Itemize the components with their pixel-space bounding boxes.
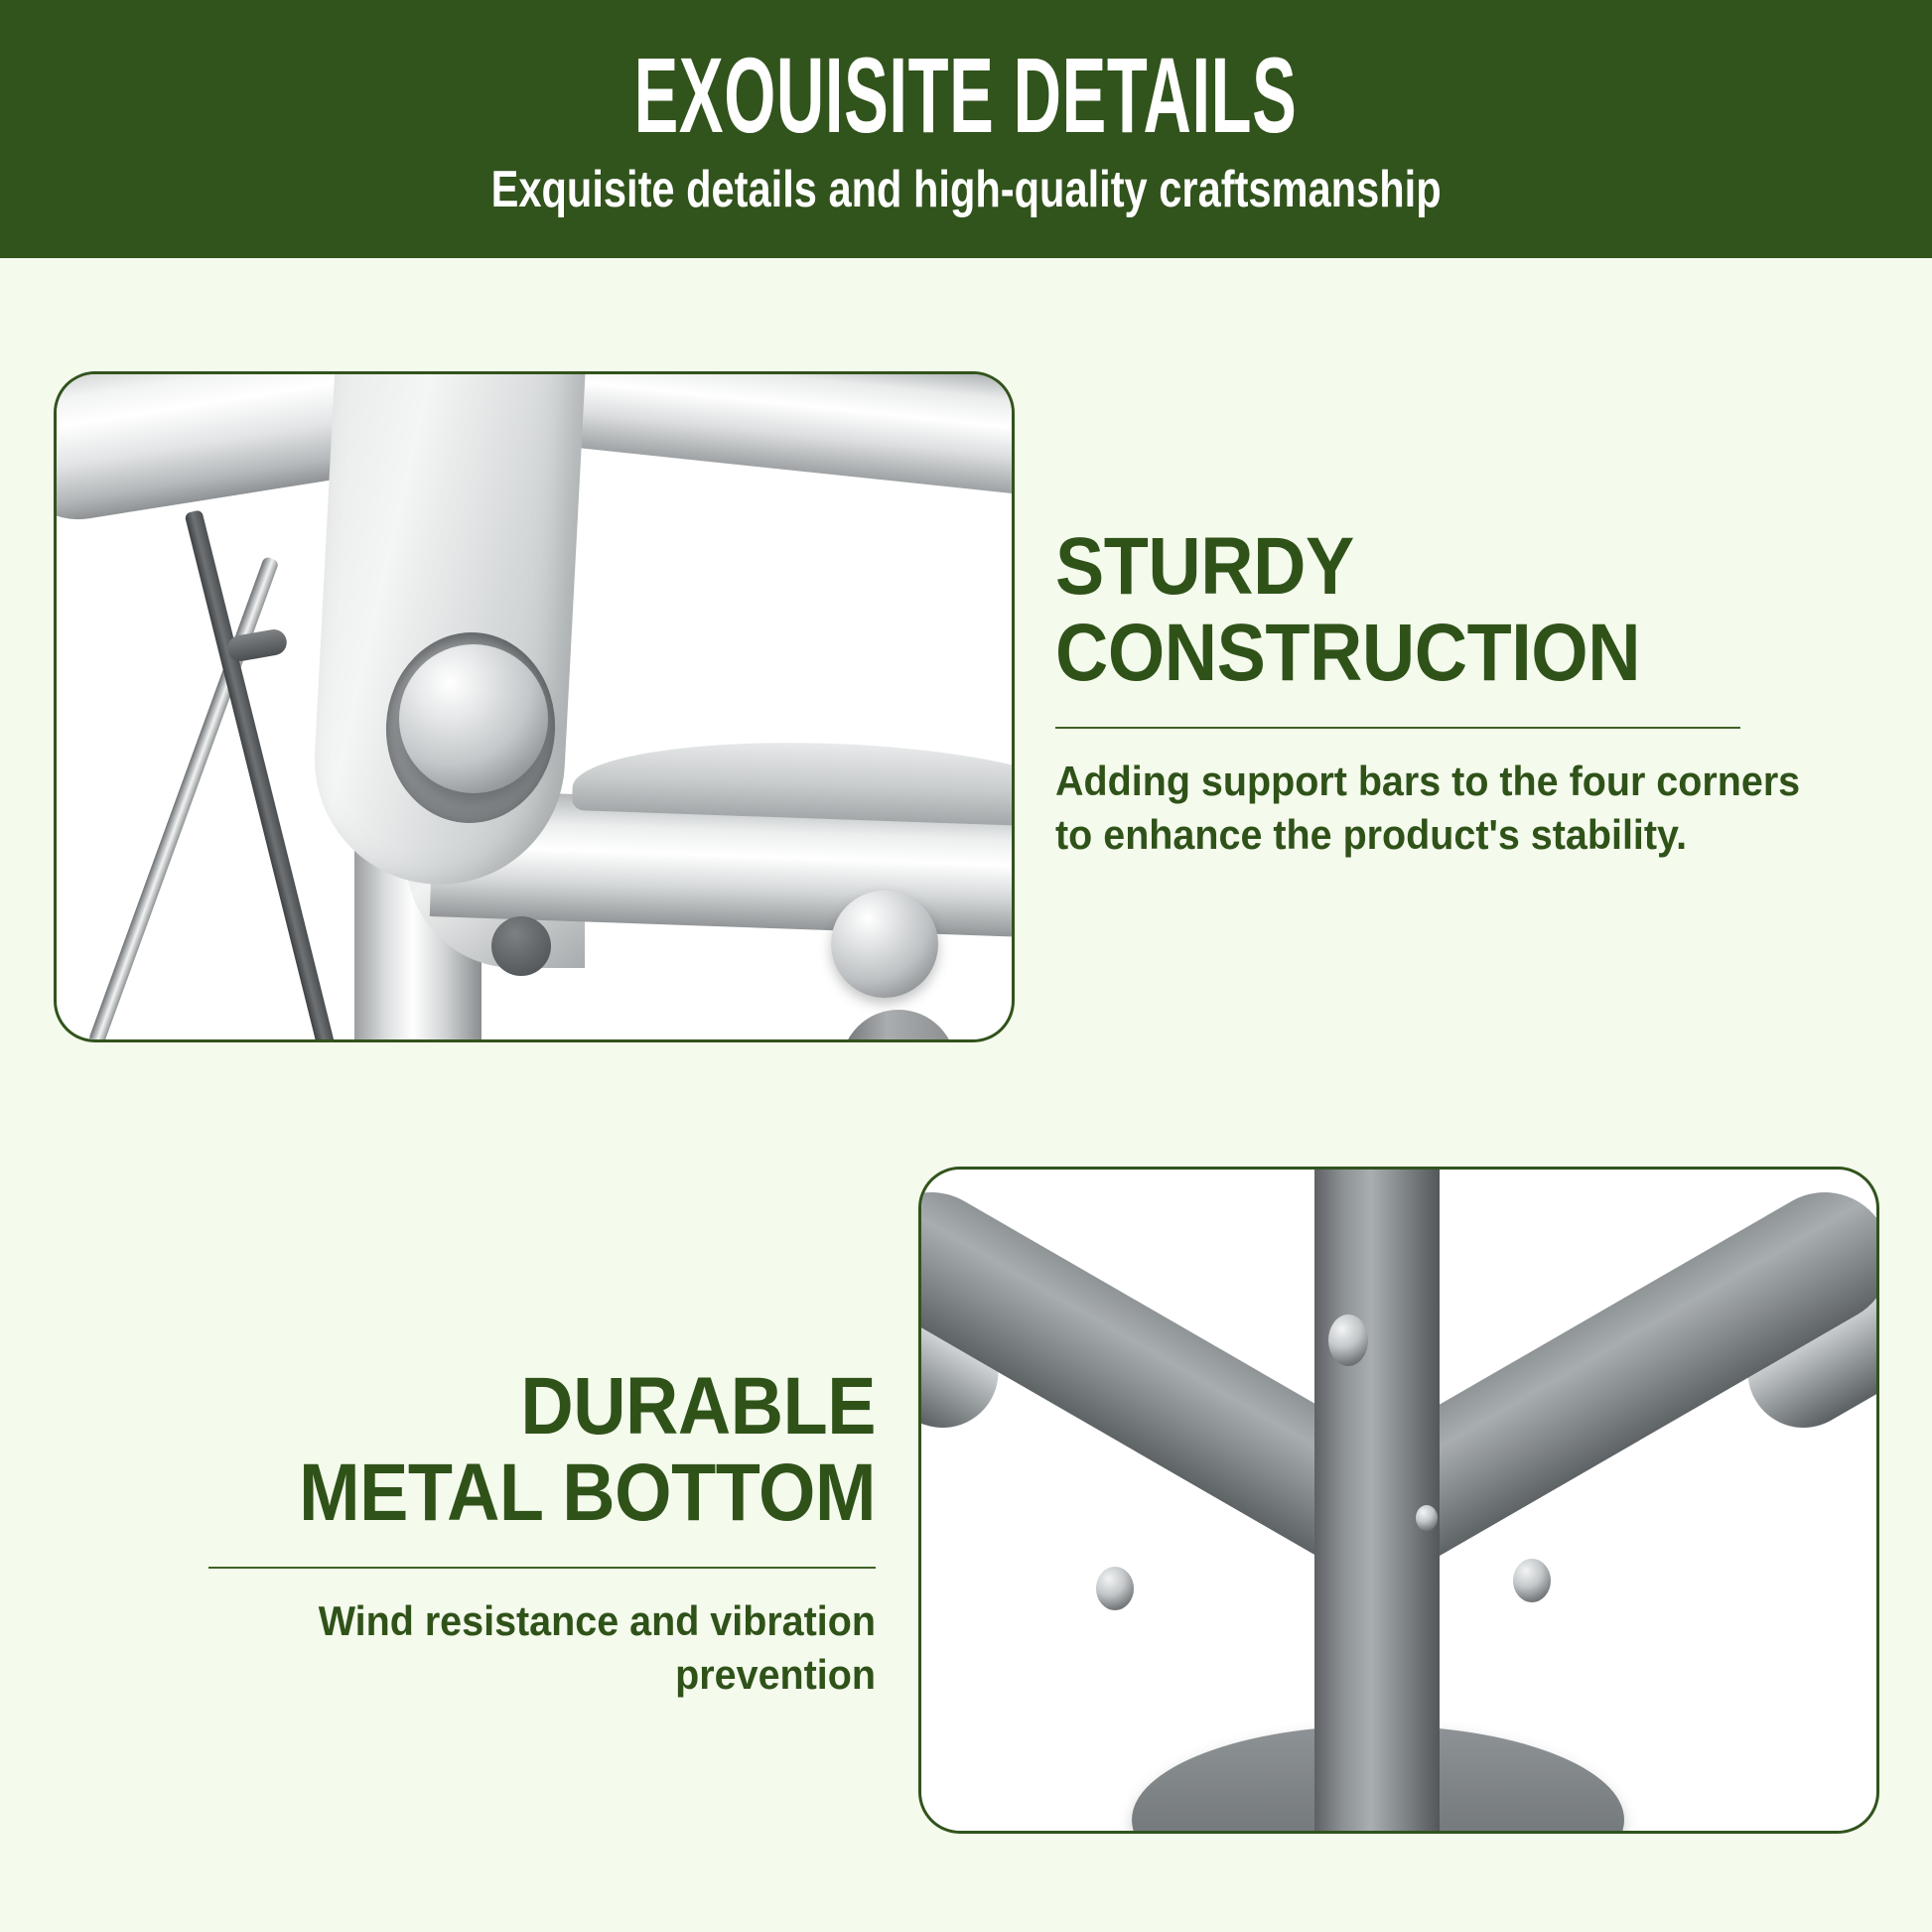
feature-description-sturdy-construction: Adding support bars to the four corners …	[1055, 755, 1802, 862]
divider-sturdy-construction	[1055, 727, 1740, 729]
feature-text-sturdy-construction: STURDY CONSTRUCTION Adding support bars …	[1055, 524, 1850, 861]
metal-foot-illustration	[921, 1170, 1876, 1831]
lower-tube-stub	[841, 1010, 956, 1039]
header-banner: EXOUISITE DETAILS Exquisite details and …	[0, 0, 1932, 258]
ball-rivet-lower-icon	[831, 891, 938, 998]
feature-heading-sturdy-construction: STURDY CONSTRUCTION	[1055, 524, 1770, 697]
feature-description-durable-metal-bottom: Wind resistance and vibration prevention	[110, 1594, 876, 1702]
brace-cap-icon	[225, 627, 289, 663]
ball-rivet-upper-icon	[399, 644, 548, 793]
rivet-left-icon	[1096, 1567, 1134, 1610]
rivet-center-icon	[1416, 1505, 1438, 1531]
pin-hole	[491, 916, 551, 976]
divider-durable-metal-bottom	[208, 1567, 876, 1569]
support-bar-left-icon	[88, 556, 280, 1039]
rivet-top-icon	[1328, 1314, 1368, 1366]
feature-image-durable-metal-bottom	[918, 1167, 1879, 1834]
feature-image-sturdy-construction	[54, 371, 1015, 1042]
page-title: EXOUISITE DETAILS	[634, 42, 1298, 149]
rivet-right-icon	[1513, 1559, 1551, 1602]
chrome-joint-illustration	[57, 374, 1012, 1039]
vertical-leg-pole	[1314, 1170, 1440, 1831]
feature-heading-durable-metal-bottom: DURABLE METAL BOTTOM	[143, 1364, 876, 1537]
feature-text-durable-metal-bottom: DURABLE METAL BOTTOM Wind resistance and…	[62, 1364, 876, 1701]
page-subtitle: Exquisite details and high-quality craft…	[490, 163, 1441, 217]
